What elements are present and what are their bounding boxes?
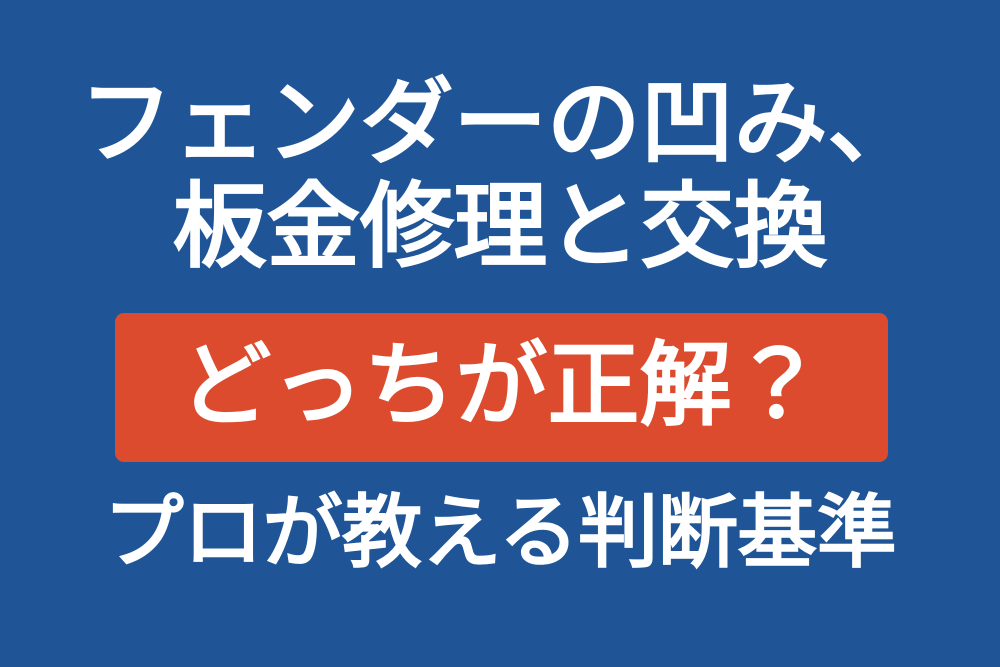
headline-line-1: フェンダーの凹み、 [0,72,1000,176]
highlight-banner: どっちが正解？ [115,313,888,462]
headline-line-2: 板金修理と交換 [0,176,1000,280]
poster-canvas: フェンダーの凹み、 板金修理と交換 どっちが正解？ プロが教える判断基準 [0,0,1000,667]
headline-block: フェンダーの凹み、 板金修理と交換 [0,72,1000,280]
banner-text: どっちが正解？ [179,336,823,440]
subtitle-text: プロが教える判断基準 [104,486,897,579]
subtitle-block: プロが教える判断基準 [0,487,1000,579]
